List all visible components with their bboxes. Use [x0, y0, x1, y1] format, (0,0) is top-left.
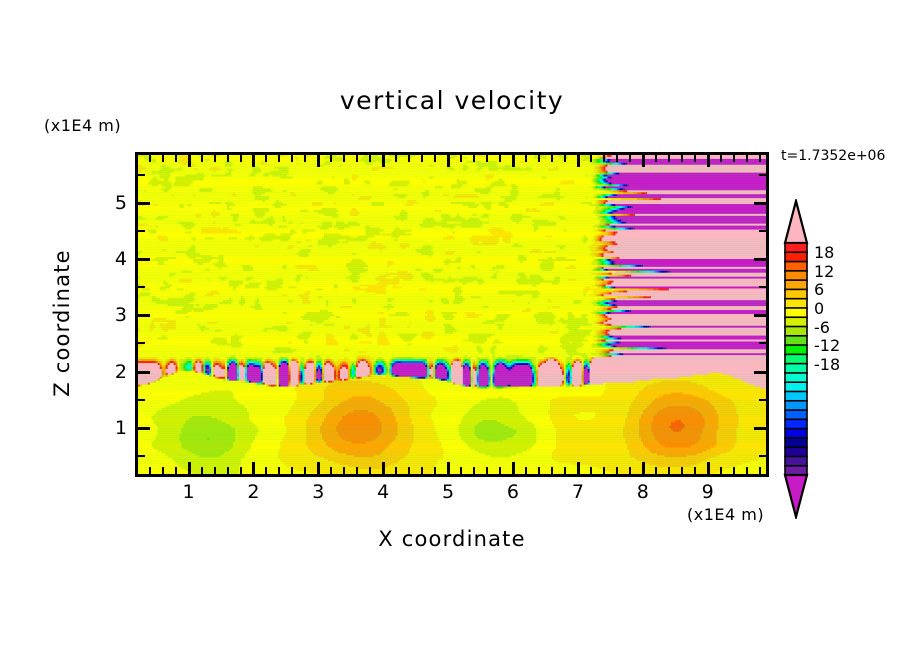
x-tick-top-minor [343, 155, 345, 162]
y-tick-minor [138, 342, 145, 344]
x-tick-top-minor [564, 155, 566, 162]
y-tick-right-minor [759, 455, 766, 457]
x-tick-top-minor [227, 155, 229, 162]
x-tick-label: 9 [688, 481, 728, 503]
x-tick-major [382, 462, 385, 474]
x-tick-minor [240, 467, 242, 474]
x-tick-major [252, 462, 255, 474]
x-tick-label: 3 [298, 481, 338, 503]
x-tick-top-minor [655, 155, 657, 162]
x-tick-minor [330, 467, 332, 474]
colorbar-tick-label: -18 [814, 355, 840, 374]
x-tick-major [642, 462, 645, 474]
x-tick-label: 8 [623, 481, 663, 503]
x-tick-top-minor [291, 155, 293, 162]
x-tick-top-minor [499, 155, 501, 162]
x-tick-top-minor [330, 155, 332, 162]
x-tick-minor [733, 467, 735, 474]
x-tick-label: 1 [169, 481, 209, 503]
figure-canvas: vertical velocity (x1E4 m) (x1E4 m) X co… [0, 0, 904, 654]
x-tick-minor [655, 467, 657, 474]
x-tick-minor [473, 467, 475, 474]
x-tick-top-minor [395, 155, 397, 162]
x-tick-label: 7 [558, 481, 598, 503]
x-tick-top-minor [473, 155, 475, 162]
x-tick-top-minor [616, 155, 618, 162]
y-tick-major [138, 258, 150, 261]
x-tick-top-minor [460, 155, 462, 162]
x-tick-minor [746, 467, 748, 474]
x-tick-top-minor [214, 155, 216, 162]
x-tick-top-minor [240, 155, 242, 162]
y-tick-minor [138, 286, 145, 288]
y-tick-label: 3 [87, 304, 127, 326]
x-tick-minor [162, 467, 164, 474]
x-tick-minor [538, 467, 540, 474]
velocity-field-image [138, 155, 766, 474]
y-tick-right-major [754, 202, 766, 205]
x-tick-minor [369, 467, 371, 474]
y-tick-major [138, 371, 150, 374]
x-tick-minor [616, 467, 618, 474]
x-tick-label: 4 [363, 481, 403, 503]
x-tick-top-minor [746, 155, 748, 162]
y-tick-label: 5 [87, 192, 127, 214]
x-axis-units-label: (x1E4 m) [687, 505, 764, 524]
x-tick-top-minor [278, 155, 280, 162]
colorbar-tick-label: -12 [814, 336, 840, 355]
x-tick-minor [551, 467, 553, 474]
x-tick-top-major [317, 155, 320, 167]
x-tick-top-minor [175, 155, 177, 162]
x-tick-top-minor [434, 155, 436, 162]
x-tick-top-major [252, 155, 255, 167]
x-tick-top-minor [759, 155, 761, 162]
x-tick-minor [149, 467, 151, 474]
colorbar-tick-label: -6 [814, 318, 830, 337]
x-tick-top-minor [668, 155, 670, 162]
contour-plot-panel [135, 152, 769, 477]
y-tick-right-minor [759, 342, 766, 344]
x-tick-top-minor [733, 155, 735, 162]
x-tick-minor [694, 467, 696, 474]
x-tick-minor [227, 467, 229, 474]
x-tick-top-minor [304, 155, 306, 162]
x-tick-label: 6 [493, 481, 533, 503]
x-tick-label: 2 [233, 481, 273, 503]
x-tick-top-minor [486, 155, 488, 162]
colorbar-tick-label: 6 [814, 280, 824, 299]
y-tick-minor [138, 174, 145, 176]
x-tick-top-minor [356, 155, 358, 162]
y-tick-minor [138, 399, 145, 401]
x-tick-minor [201, 467, 203, 474]
x-tick-top-minor [603, 155, 605, 162]
y-tick-label: 4 [87, 248, 127, 270]
x-tick-top-minor [201, 155, 203, 162]
x-tick-minor [460, 467, 462, 474]
x-tick-minor [525, 467, 527, 474]
x-tick-minor [629, 467, 631, 474]
x-tick-top-minor [538, 155, 540, 162]
x-tick-top-minor [408, 155, 410, 162]
x-tick-minor [214, 467, 216, 474]
x-tick-top-major [447, 155, 450, 167]
x-tick-top-minor [551, 155, 553, 162]
x-tick-major [512, 462, 515, 474]
x-tick-top-minor [525, 155, 527, 162]
y-tick-right-major [754, 371, 766, 374]
y-tick-right-minor [759, 230, 766, 232]
x-tick-top-major [512, 155, 515, 167]
y-tick-label: 2 [87, 361, 127, 383]
x-tick-minor [590, 467, 592, 474]
x-tick-minor [681, 467, 683, 474]
y-tick-right-minor [759, 174, 766, 176]
y-tick-major [138, 314, 150, 317]
x-tick-major [317, 462, 320, 474]
x-tick-top-minor [694, 155, 696, 162]
timestamp-annotation: t=1.7352e+06 [781, 148, 885, 164]
x-tick-top-minor [421, 155, 423, 162]
x-tick-major [188, 462, 191, 474]
y-tick-label: 1 [87, 417, 127, 439]
x-tick-top-major [188, 155, 191, 167]
colorbar-tick-label: 0 [814, 299, 824, 318]
x-tick-top-major [577, 155, 580, 167]
x-tick-top-major [382, 155, 385, 167]
x-tick-top-minor [629, 155, 631, 162]
x-tick-top-minor [162, 155, 164, 162]
colorbar [782, 199, 810, 519]
x-tick-top-minor [369, 155, 371, 162]
y-tick-major [138, 202, 150, 205]
y-axis-units-label: (x1E4 m) [44, 116, 121, 135]
x-tick-minor [720, 467, 722, 474]
y-tick-right-minor [759, 399, 766, 401]
x-tick-minor [421, 467, 423, 474]
y-tick-minor [138, 455, 145, 457]
x-tick-minor [278, 467, 280, 474]
x-tick-minor [175, 467, 177, 474]
x-tick-top-major [642, 155, 645, 167]
x-tick-top-major [707, 155, 710, 167]
x-tick-minor [564, 467, 566, 474]
x-tick-minor [356, 467, 358, 474]
x-tick-minor [668, 467, 670, 474]
x-tick-minor [304, 467, 306, 474]
colorbar-tick-label: 12 [814, 262, 834, 281]
y-tick-minor [138, 230, 145, 232]
x-tick-minor [603, 467, 605, 474]
x-tick-top-minor [590, 155, 592, 162]
x-tick-major [707, 462, 710, 474]
x-axis-title: X coordinate [0, 527, 904, 551]
x-tick-major [577, 462, 580, 474]
x-tick-minor [395, 467, 397, 474]
x-tick-top-minor [149, 155, 151, 162]
y-axis-title: Z coordinate [50, 203, 74, 443]
x-tick-minor [265, 467, 267, 474]
x-tick-minor [408, 467, 410, 474]
page-title: vertical velocity [0, 86, 904, 115]
x-tick-minor [499, 467, 501, 474]
y-tick-right-minor [759, 286, 766, 288]
x-tick-top-minor [720, 155, 722, 162]
x-tick-minor [759, 467, 761, 474]
x-tick-top-minor [265, 155, 267, 162]
y-tick-right-major [754, 427, 766, 430]
x-tick-minor [434, 467, 436, 474]
x-tick-top-minor [681, 155, 683, 162]
y-tick-right-major [754, 258, 766, 261]
colorbar-tick-label: 18 [814, 243, 834, 262]
x-tick-label: 5 [428, 481, 468, 503]
x-tick-minor [343, 467, 345, 474]
y-tick-right-major [754, 314, 766, 317]
x-tick-major [447, 462, 450, 474]
y-tick-major [138, 427, 150, 430]
x-tick-minor [486, 467, 488, 474]
x-tick-minor [291, 467, 293, 474]
